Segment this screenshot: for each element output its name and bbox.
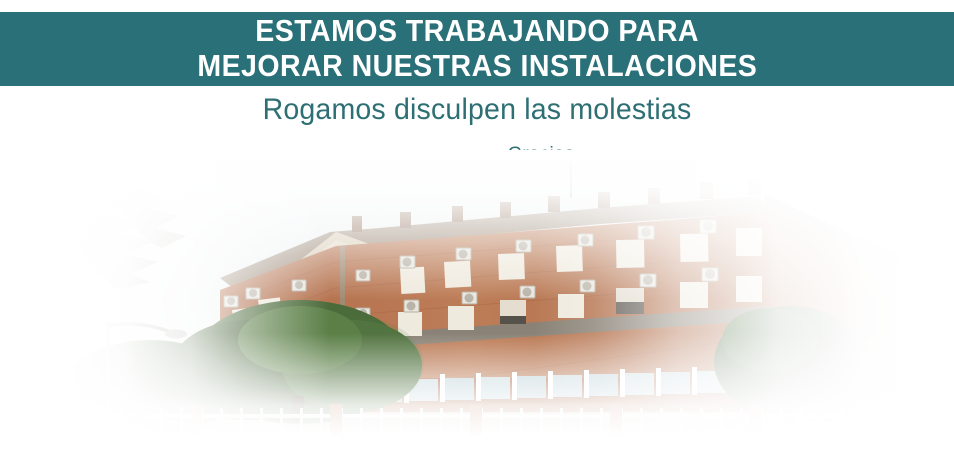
- banner-line-1: ESTAMOS TRABAJANDO PARA: [255, 14, 699, 49]
- notice-poster: ESTAMOS TRABAJANDO PARA MEJORAR NUESTRAS…: [0, 0, 954, 463]
- antenna: [570, 162, 572, 198]
- banner: ESTAMOS TRABAJANDO PARA MEJORAR NUESTRAS…: [0, 12, 954, 86]
- subtitle-text: Rogamos disculpen las molestias: [24, 93, 930, 127]
- banner-line-2: MEJORAR NUESTRAS INSTALACIONES: [197, 49, 757, 84]
- building-illustration: [0, 150, 954, 463]
- building-photo: [0, 150, 954, 463]
- pavement: [0, 438, 954, 463]
